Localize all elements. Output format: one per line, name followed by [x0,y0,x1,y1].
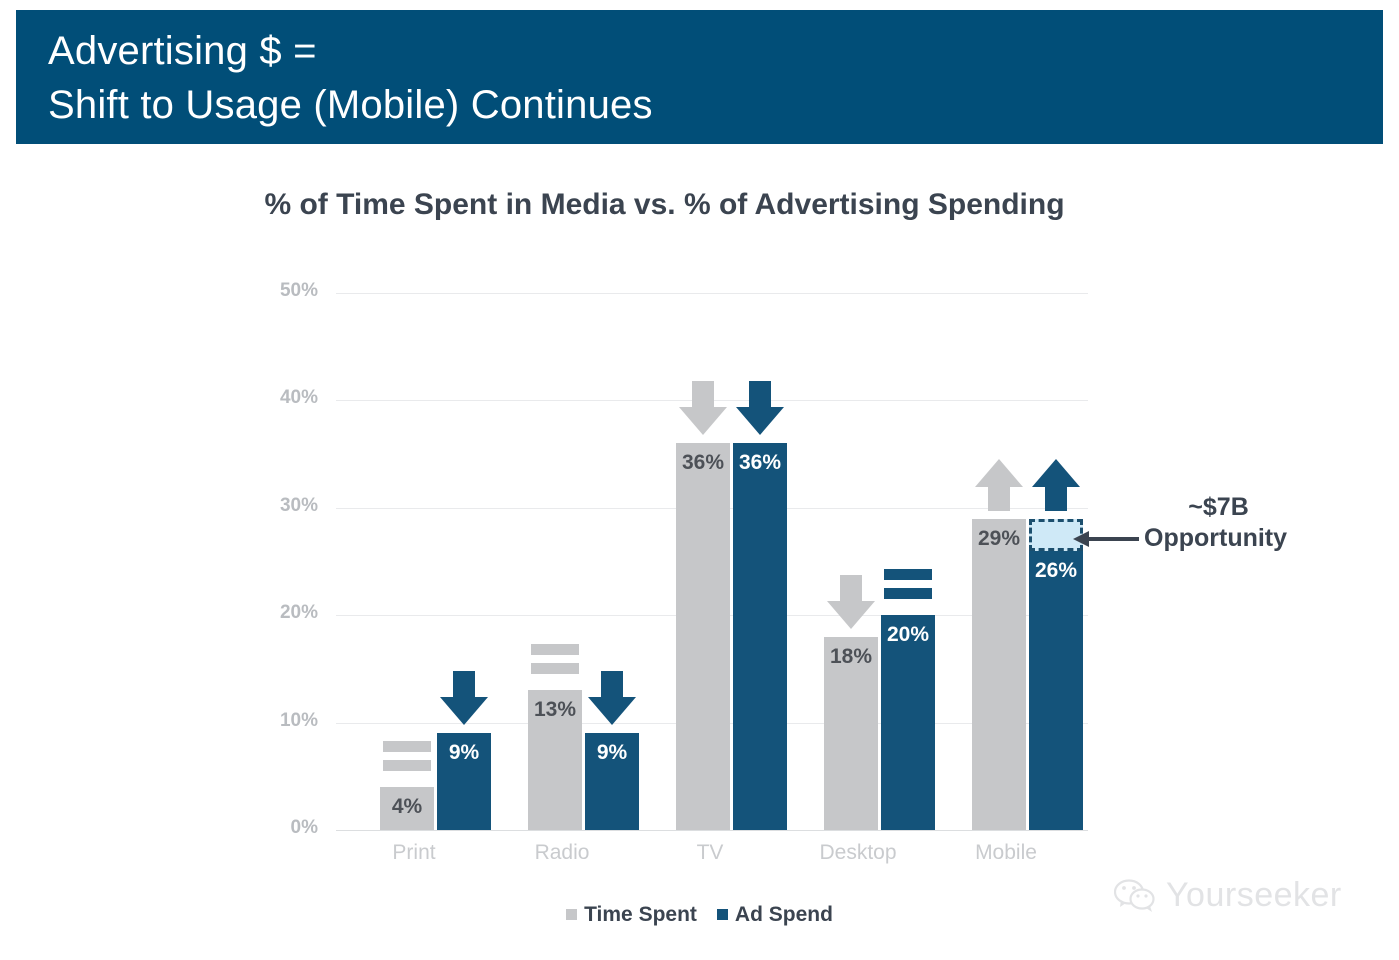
x-axis-label-desktop: Desktop [784,841,932,865]
x-axis-label-mobile: Mobile [932,841,1080,865]
down-indicator-icon [676,381,730,437]
watermark-text: Yourseeker [1166,876,1342,915]
equals-indicator-icon [380,725,434,781]
x-axis-label-print: Print [340,841,488,865]
down-indicator-icon [585,671,639,727]
banner-line-2: Shift to Usage (Mobile) Continues [48,78,1383,132]
bar-radio-ad-spend[interactable]: 9% [585,733,639,830]
bar-value-label: 29% [972,527,1026,551]
bar-group-tv: 36%36%TV [654,293,802,830]
y-axis-tick-label: 0% [256,817,318,839]
bar-value-label: 36% [676,451,730,475]
up-indicator-icon [1029,457,1083,513]
x-axis-label-radio: Radio [488,841,636,865]
gridline [336,830,1088,831]
title-banner: Advertising $ = Shift to Usage (Mobile) … [16,10,1383,144]
bar-value-label: 20% [881,623,935,647]
opportunity-label: Opportunity [1144,523,1287,554]
wechat-icon [1114,879,1156,913]
bar-print-ad-spend[interactable]: 9% [437,733,491,830]
equals-indicator-icon [528,628,582,684]
down-indicator-icon [733,381,787,437]
bar-value-label: 13% [528,698,582,722]
up-indicator-icon [972,457,1026,513]
bar-group-mobile: 29%26%Mobile [950,293,1098,830]
down-indicator-icon [437,671,491,727]
opportunity-annotation: ~$7B Opportunity [1144,492,1287,554]
chart-title: % of Time Spent in Media vs. % of Advert… [0,188,1399,222]
legend-swatch [717,909,728,920]
bar-tv-ad-spend[interactable]: 36% [733,443,787,830]
bar-print-time-spent[interactable]: 4% [380,787,434,830]
watermark: Yourseeker [1114,876,1342,915]
bar-desktop-ad-spend[interactable]: 20% [881,615,935,830]
opportunity-amount: ~$7B [1144,492,1287,523]
bar-group-desktop: 18%20%Desktop [802,293,950,830]
legend-swatch [566,909,577,920]
bar-value-label: 36% [733,451,787,475]
legend-item-ad-spend[interactable]: Ad Spend [717,903,833,927]
bar-group-radio: 13%9%Radio [506,293,654,830]
bar-value-label: 18% [824,645,878,669]
bar-desktop-time-spent[interactable]: 18% [824,637,878,830]
chart-title-text: % of Time Spent in Media vs. % of Advert… [264,188,1064,222]
down-indicator-icon [824,575,878,631]
bar-radio-time-spent[interactable]: 13% [528,690,582,830]
bar-value-label: 9% [585,741,639,765]
legend-label: Ad Spend [735,903,833,926]
plot-area: 4%9%Print13%9%Radio36%36%TV18%20%Desktop… [336,293,1088,830]
equals-indicator-icon [881,553,935,609]
bar-value-label: 4% [380,795,434,819]
opportunity-arrow-icon [1073,531,1139,547]
y-axis-tick-label: 20% [256,602,318,624]
legend-label: Time Spent [584,903,697,926]
bar-mobile-ad-spend[interactable]: 26% [1029,551,1083,830]
y-axis-tick-label: 50% [256,280,318,302]
bar-value-label: 26% [1029,559,1083,583]
banner-line-1: Advertising $ = [48,24,1383,78]
x-axis-label-tv: TV [636,841,784,865]
y-axis-tick-label: 40% [256,387,318,409]
bar-mobile-time-spent[interactable]: 29% [972,519,1026,830]
legend-item-time-spent[interactable]: Time Spent [566,903,697,927]
y-axis-tick-label: 10% [256,710,318,732]
bar-value-label: 9% [437,741,491,765]
bar-tv-time-spent[interactable]: 36% [676,443,730,830]
bar-group-print: 4%9%Print [358,293,506,830]
y-axis-tick-label: 30% [256,495,318,517]
